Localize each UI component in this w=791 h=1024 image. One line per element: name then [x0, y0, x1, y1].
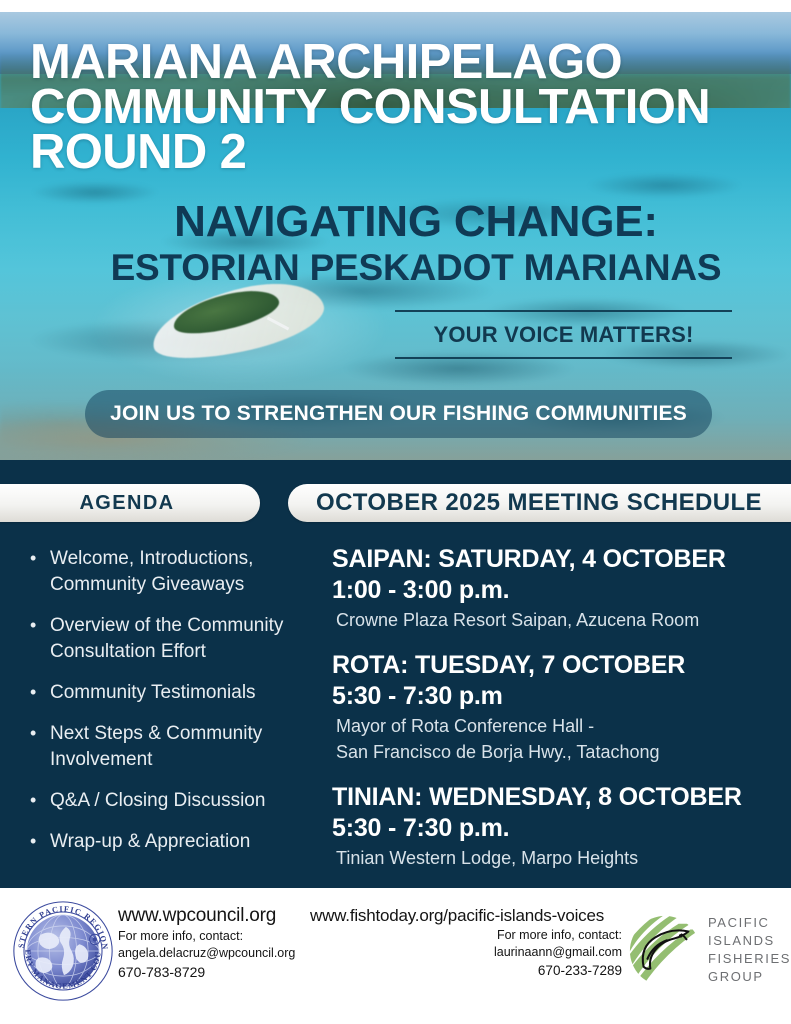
agenda-item: Overview of the Community Consultation E…	[28, 613, 316, 665]
meeting-venue-line: Tinian Western Lodge, Marpo Heights	[332, 844, 782, 870]
meeting-time: 5:30 - 7:30 p.m.	[332, 813, 782, 844]
meeting-time: 5:30 - 7:30 p.m	[332, 681, 782, 712]
voice-tagline-block: YOUR VOICE MATTERS!	[395, 310, 732, 359]
fishtoday-contact-block: www.fishtoday.org/pacific-islands-voices…	[310, 904, 622, 980]
wpcouncil-phone[interactable]: 670-783-8729	[118, 962, 318, 982]
agenda-item: Welcome, Introductions, Community Giveaw…	[28, 546, 316, 598]
pifg-word-line: ISLANDS	[708, 932, 786, 950]
title-line-3: ROUND 2	[30, 130, 775, 175]
pifg-fish-icon	[626, 912, 704, 990]
wpcouncil-seal-icon: WESTERN PACIFIC REGIONAL FISHERY MANAGEM…	[10, 898, 116, 1004]
meeting-venue-line: Crowne Plaza Resort Saipan, Azucena Room	[332, 606, 782, 632]
meeting-entry-saipan: SAIPAN: SATURDAY, 4 OCTOBER 1:00 - 3:00 …	[332, 544, 782, 632]
pifg-wordmark: PACIFIC ISLANDS FISHERIES GROUP	[708, 914, 786, 986]
subtitle-primary: NAVIGATING CHANGE:	[46, 198, 786, 246]
pifg-logo-block: PACIFIC ISLANDS FISHERIES GROUP	[626, 906, 786, 1002]
join-banner: JOIN US TO STRENGTHEN OUR FISHING COMMUN…	[85, 390, 712, 438]
wpcouncil-contact-label: For more info, contact:	[118, 928, 318, 945]
meeting-title: SAIPAN: SATURDAY, 4 OCTOBER	[332, 544, 782, 575]
hero-section: MARIANA ARCHIPELAGO COMMUNITY CONSULTATI…	[0, 12, 791, 460]
join-banner-label: JOIN US TO STRENGTHEN OUR FISHING COMMUN…	[110, 402, 687, 426]
schedule-heading-label: OCTOBER 2025 MEETING SCHEDULE	[316, 489, 762, 517]
agenda-item: Wrap-up & Appreciation	[28, 829, 316, 855]
poster-title: MARIANA ARCHIPELAGO COMMUNITY CONSULTATI…	[30, 40, 775, 175]
wpcouncil-url[interactable]: www.wpcouncil.org	[118, 904, 318, 928]
pifg-word-line: FISHERIES	[708, 950, 786, 968]
meeting-time: 1:00 - 3:00 p.m.	[332, 575, 782, 606]
voice-tagline: YOUR VOICE MATTERS!	[395, 312, 732, 357]
agenda-item: Community Testimonials	[28, 680, 316, 706]
fishtoday-contact-label: For more info, contact:	[310, 927, 622, 944]
agenda-item: Next Steps & Community Involvement	[28, 721, 316, 773]
title-line-1: MARIANA ARCHIPELAGO	[30, 40, 775, 85]
agenda-item: Q&A / Closing Discussion	[28, 788, 316, 814]
wpcouncil-email[interactable]: angela.delacruz@wpcouncil.org	[118, 945, 318, 962]
meeting-title: ROTA: TUESDAY, 7 OCTOBER	[332, 650, 782, 681]
wpcouncil-contact-block: www.wpcouncil.org For more info, contact…	[118, 904, 318, 982]
agenda-heading-pill: AGENDA	[0, 484, 260, 522]
hero-text-layer: MARIANA ARCHIPELAGO COMMUNITY CONSULTATI…	[0, 12, 791, 460]
meeting-venue-line: Mayor of Rota Conference Hall -	[332, 712, 782, 738]
title-line-2: COMMUNITY CONSULTATION	[30, 85, 775, 130]
fishtoday-phone[interactable]: 670-233-7289	[310, 961, 622, 980]
poster-subtitle: NAVIGATING CHANGE: ESTORIAN PESKADOT MAR…	[46, 198, 786, 290]
meeting-entry-rota: ROTA: TUESDAY, 7 OCTOBER 5:30 - 7:30 p.m…	[332, 650, 782, 764]
content-section: AGENDA OCTOBER 2025 MEETING SCHEDULE Wel…	[0, 460, 791, 888]
pifg-word-line: GROUP	[708, 968, 786, 986]
poster-flyer: MARIANA ARCHIPELAGO COMMUNITY CONSULTATI…	[0, 0, 791, 1024]
fishtoday-url[interactable]: www.fishtoday.org/pacific-islands-voices	[310, 904, 622, 927]
meeting-entry-tinian: TINIAN: WEDNESDAY, 8 OCTOBER 5:30 - 7:30…	[332, 782, 782, 870]
agenda-list: Welcome, Introductions, Community Giveaw…	[28, 546, 316, 870]
tagline-rule-bottom	[395, 357, 732, 359]
subtitle-secondary: ESTORIAN PESKADOT MARIANAS	[46, 246, 786, 290]
meeting-venue-line: San Francisco de Borja Hwy., Tatachong	[332, 738, 782, 764]
fishtoday-email[interactable]: laurinaann@gmail.com	[310, 944, 622, 961]
pifg-word-line: PACIFIC	[708, 914, 786, 932]
schedule-heading-pill: OCTOBER 2025 MEETING SCHEDULE	[288, 484, 791, 522]
schedule-list: SAIPAN: SATURDAY, 4 OCTOBER 1:00 - 3:00 …	[332, 544, 782, 888]
meeting-title: TINIAN: WEDNESDAY, 8 OCTOBER	[332, 782, 782, 813]
agenda-heading-label: AGENDA	[79, 492, 174, 515]
footer-section: WESTERN PACIFIC REGIONAL FISHERY MANAGEM…	[0, 888, 791, 1024]
